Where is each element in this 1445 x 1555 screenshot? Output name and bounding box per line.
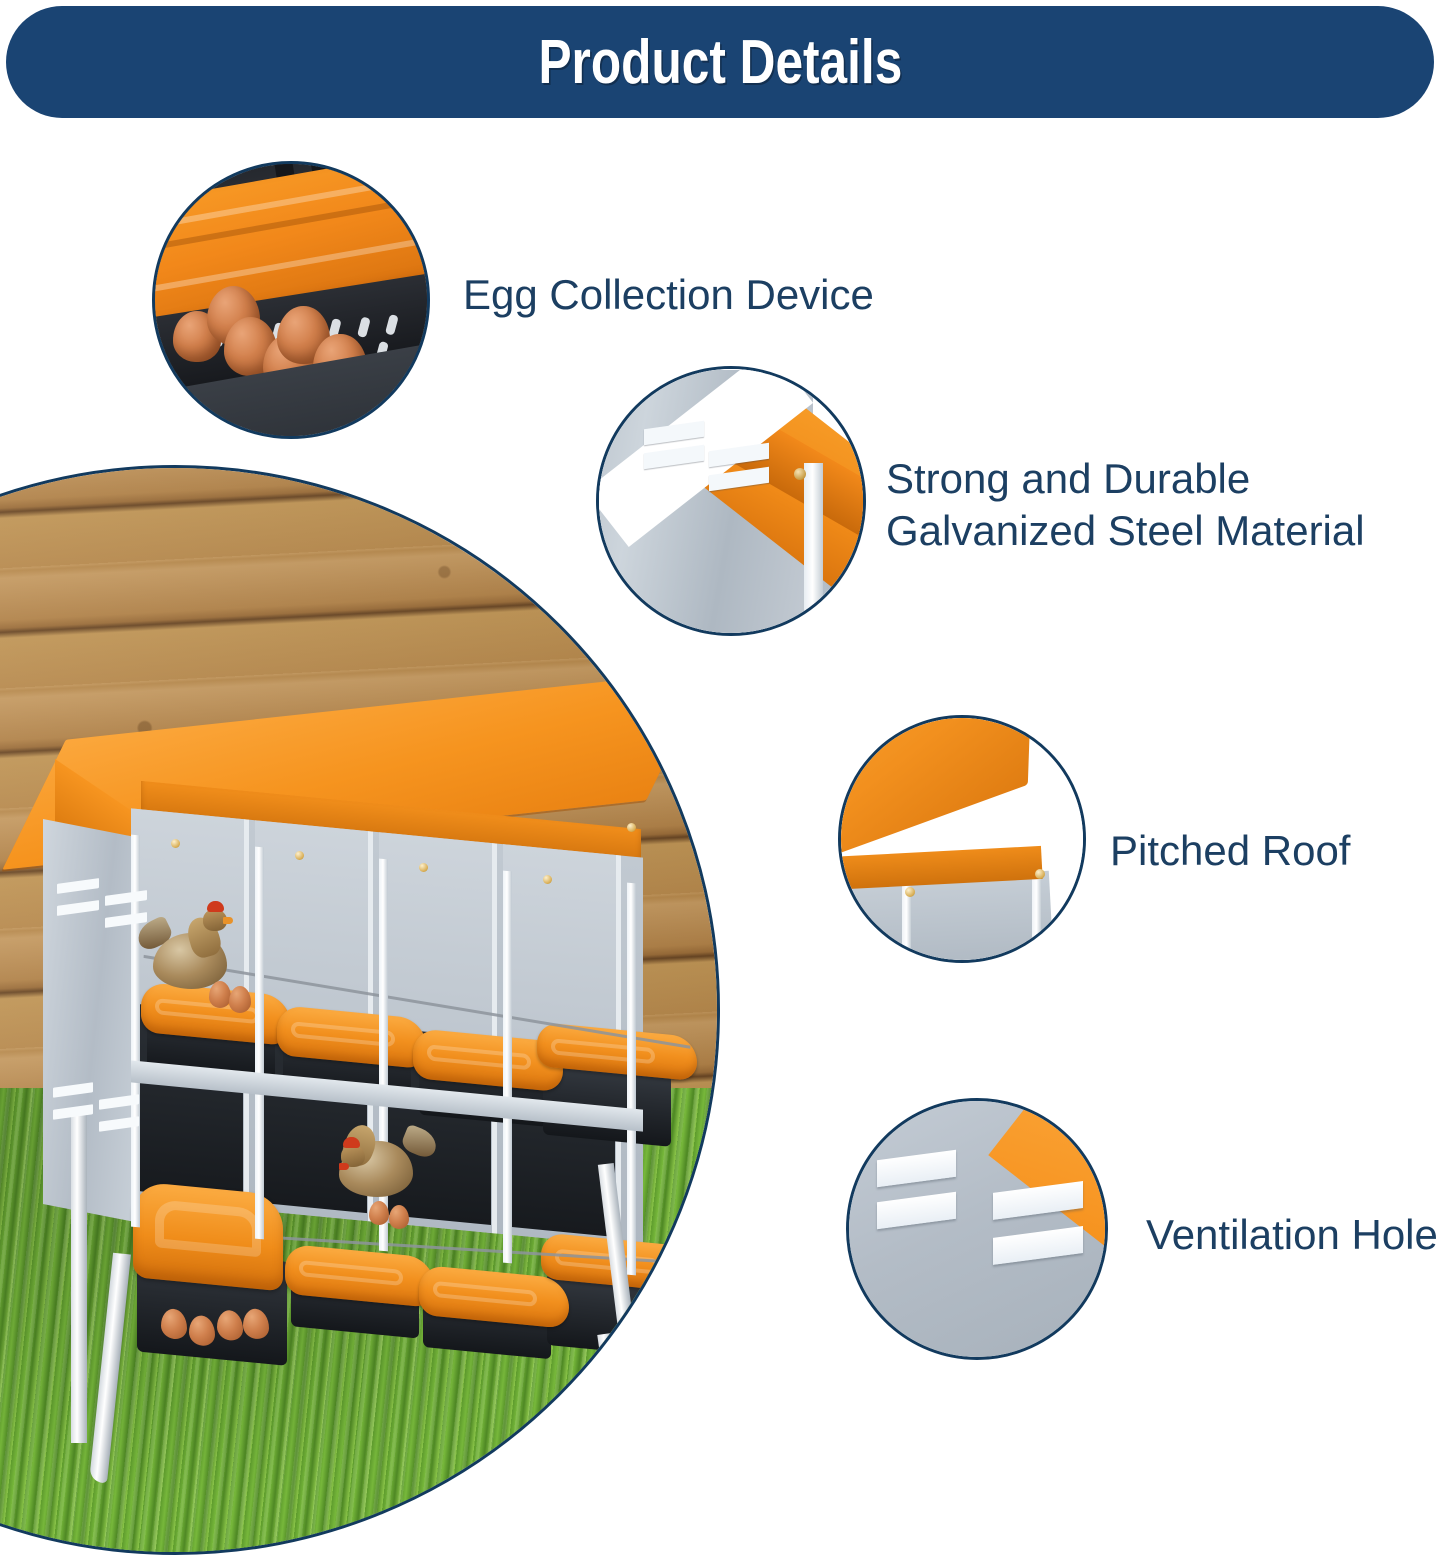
- roof-screw: [1035, 869, 1045, 879]
- callout-circle-ventilation-hole: [846, 1098, 1108, 1360]
- page-header-banner: Product Details: [6, 6, 1434, 118]
- callout-label-egg-collection: Egg Collection Device: [463, 269, 874, 321]
- roof-screw: [419, 863, 428, 872]
- corner-post: [1032, 874, 1041, 963]
- roof-screw: [295, 851, 304, 860]
- back-leg-left: [71, 1113, 87, 1443]
- divider-post: [627, 883, 636, 1276]
- chicken-comb: [207, 901, 224, 912]
- egg: [389, 1205, 409, 1229]
- chicken-beak: [223, 917, 233, 924]
- corner-post: [804, 463, 823, 636]
- chicken-lower-tier: [339, 1123, 429, 1203]
- callout-circle-egg-collection: [152, 161, 430, 439]
- nesting-box-unit: [13, 693, 713, 1493]
- divider-post: [255, 847, 264, 1240]
- pitched-roof-icon: [838, 715, 1086, 963]
- chicken-comb: [343, 1137, 360, 1148]
- roof-screw: [627, 823, 636, 832]
- front-leg-left-curved: [89, 1253, 131, 1484]
- egg: [229, 986, 251, 1013]
- callout-circle-pitched-roof: [838, 715, 1086, 963]
- divider-post: [503, 871, 512, 1264]
- roof-screw: [543, 875, 552, 884]
- callout-label-galvanized-steel: Strong and Durable Galvanized Steel Mate…: [886, 453, 1365, 557]
- galvanized-steel-panel-icon: [596, 366, 866, 636]
- callout-label-ventilation-hole: Ventilation Hole: [1146, 1209, 1438, 1261]
- page-title: Product Details: [538, 27, 902, 98]
- callout-circle-galvanized-steel: [596, 366, 866, 636]
- roof-screw: [905, 887, 915, 897]
- chicken-beak: [339, 1163, 349, 1170]
- ventilation-slots-icon: [846, 1098, 1108, 1360]
- callout-label-pitched-roof: Pitched Roof: [1110, 825, 1350, 877]
- chicken-upper-tier: [153, 915, 243, 995]
- screw: [794, 468, 806, 480]
- egg-collection-closeup-icon: [152, 161, 430, 439]
- egg: [369, 1201, 389, 1225]
- roof-screw: [171, 839, 180, 848]
- egg: [209, 981, 231, 1008]
